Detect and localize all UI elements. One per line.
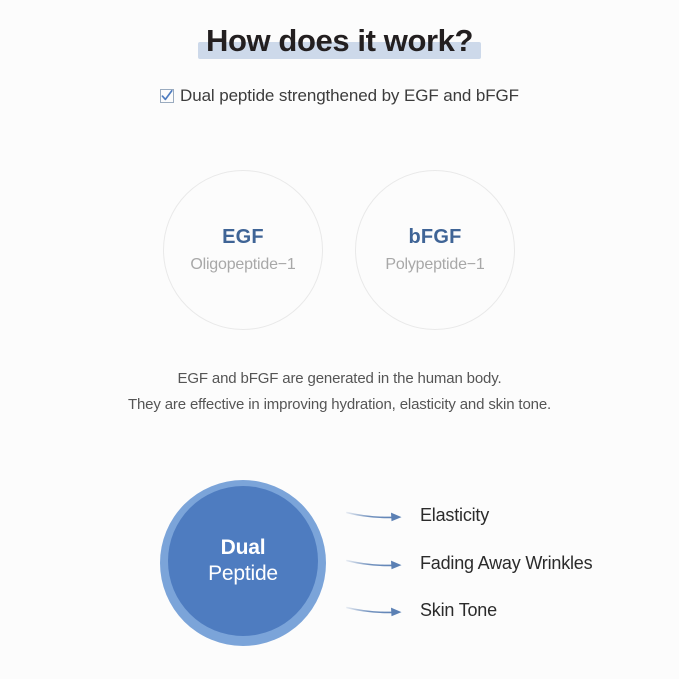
benefit-label: Elasticity [420,505,489,526]
arrow-right-icon [346,505,408,525]
checkbox-checked-icon [160,89,174,103]
benefit-row-wrinkles: Fading Away Wrinkles [346,551,592,575]
description-block: EGF and bFGF are generated in the human … [0,366,679,419]
peptide-circle-group: EGF Oligopeptide−1 bFGF Polypeptide−1 [0,170,679,330]
benefit-row-skin-tone: Skin Tone [346,598,497,622]
peptide-name: bFGF [408,226,461,249]
arrow-right-icon [346,553,408,573]
benefit-label: Skin Tone [420,600,497,621]
page-title: How does it work? [0,22,679,61]
dual-peptide-circle: Dual Peptide [168,486,318,636]
peptide-circle-egf: EGF Oligopeptide−1 [163,170,323,330]
peptide-subtitle: Oligopeptide−1 [190,256,295,274]
dual-peptide-outer-ring: Dual Peptide [160,480,326,646]
description-line-2: They are effective in improving hydratio… [0,392,679,418]
peptide-name: EGF [222,226,264,249]
arrow-right-icon [346,600,408,620]
title-inner: How does it work? [206,22,473,61]
peptide-circle-bfgf: bFGF Polypeptide−1 [355,170,515,330]
dual-peptide-diagram: Dual Peptide Elasticity [0,478,679,648]
description-line-1: EGF and bFGF are generated in the human … [0,366,679,392]
dual-peptide-line-2: Peptide [208,560,278,587]
subtitle-row: Dual peptide strengthened by EGF and bFG… [0,86,679,106]
title-text: How does it work? [206,23,473,58]
peptide-subtitle: Polypeptide−1 [385,256,484,274]
benefit-row-elasticity: Elasticity [346,503,489,527]
benefit-label: Fading Away Wrinkles [420,553,592,574]
subtitle-text: Dual peptide strengthened by EGF and bFG… [180,86,519,106]
dual-peptide-line-1: Dual [221,535,266,560]
